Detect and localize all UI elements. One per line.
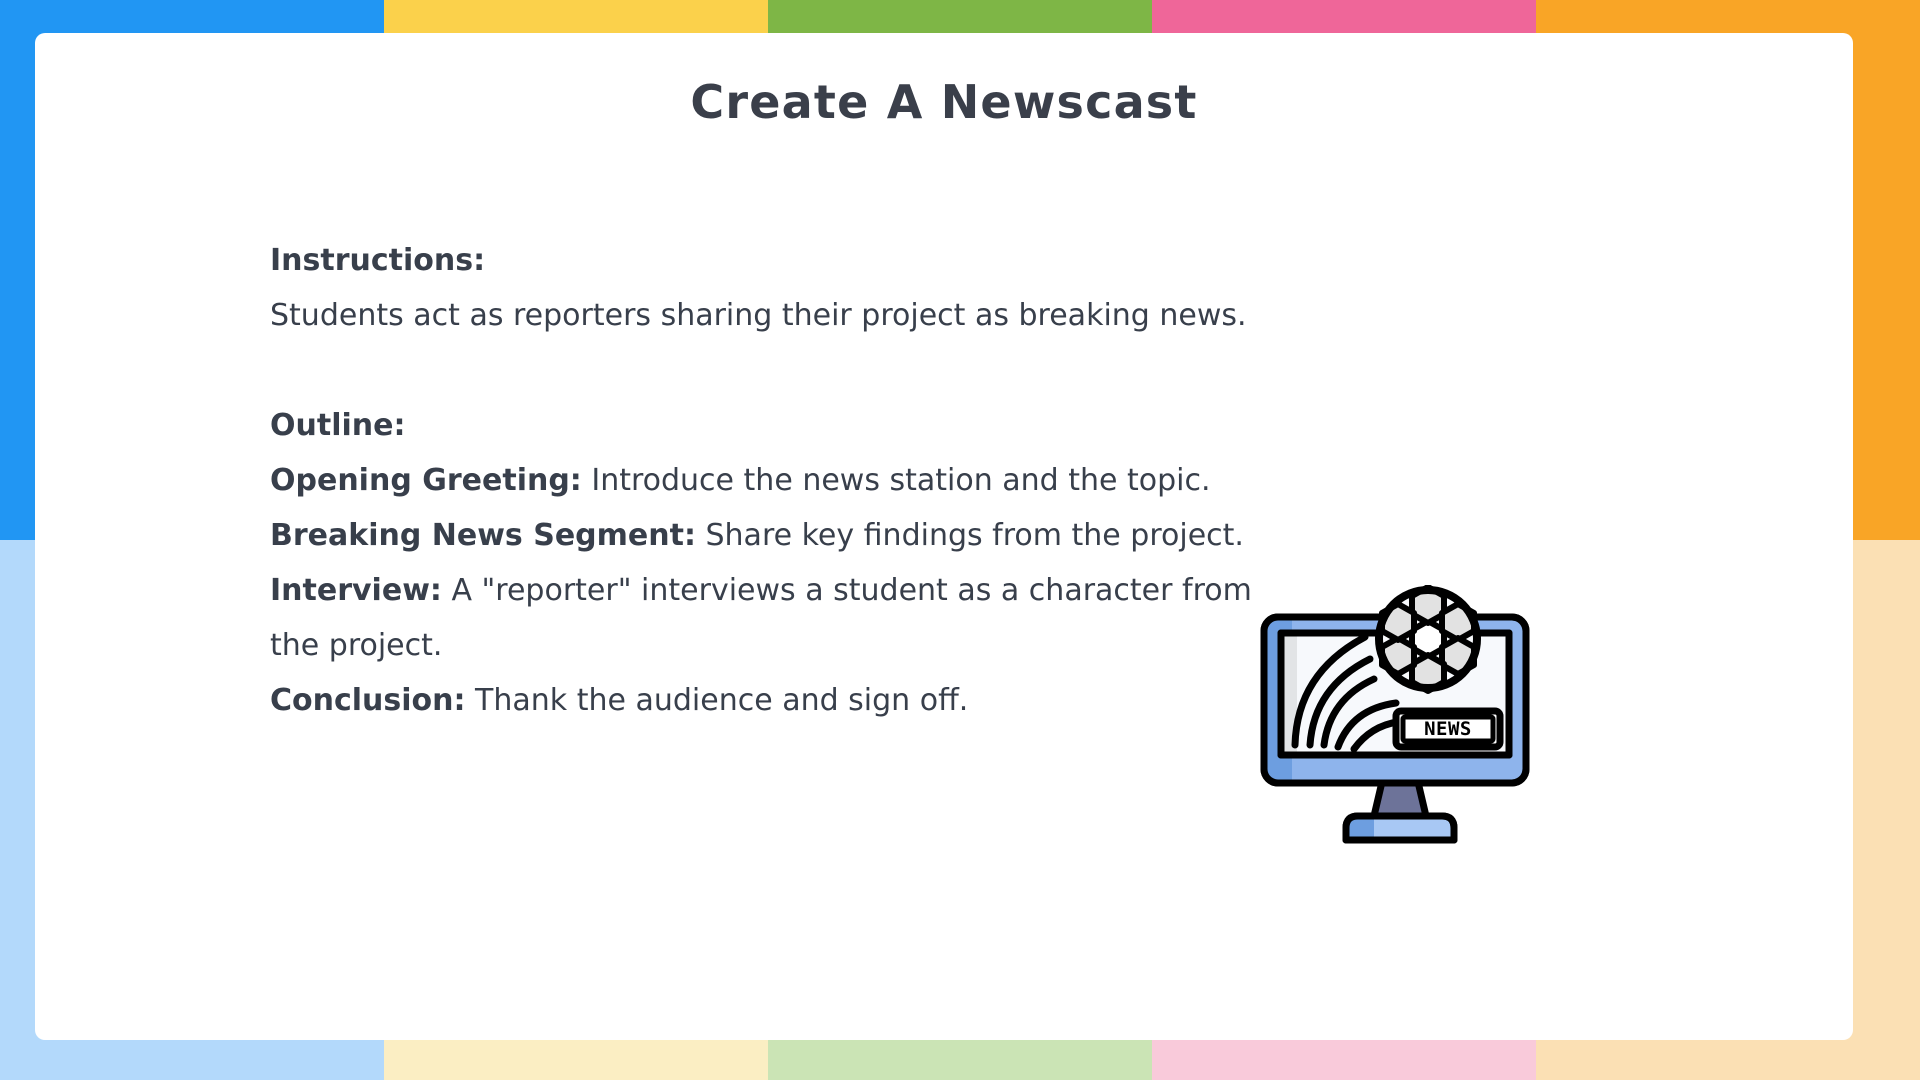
- outline-item-text: Introduce the news station and the topic…: [582, 463, 1211, 498]
- outline-item-text: Thank the audience and sign off.: [466, 683, 969, 718]
- slide-body: Instructions: Students act as reporters …: [270, 233, 1290, 728]
- slide-root: Create A Newscast Instructions: Students…: [0, 0, 1920, 1080]
- instructions-text: Students act as reporters sharing their …: [270, 288, 1290, 343]
- outline-heading: Outline:: [270, 398, 1290, 453]
- outline-item-conclusion: Conclusion: Thank the audience and sign …: [270, 673, 1290, 728]
- page-title: Create A Newscast: [35, 75, 1853, 129]
- body-spacer: [270, 343, 1290, 398]
- outline-item-label: Opening Greeting:: [270, 463, 582, 498]
- svg-text:NEWS: NEWS: [1424, 718, 1472, 740]
- outline-item-breaking-news-segment: Breaking News Segment: Share key finding…: [270, 508, 1290, 563]
- outline-item-label: Interview:: [270, 573, 442, 608]
- outline-item-text: Share key findings from the project.: [696, 518, 1244, 553]
- slide-card: Create A Newscast Instructions: Students…: [35, 33, 1853, 1040]
- news-monitor-soccer-ball-icon: NEWS: [1250, 585, 1550, 855]
- outline-item-label: Breaking News Segment:: [270, 518, 696, 553]
- outline-item-opening-greeting: Opening Greeting: Introduce the news sta…: [270, 453, 1290, 508]
- outline-item-label: Conclusion:: [270, 683, 466, 718]
- instructions-text-value: Students act as reporters sharing their …: [270, 298, 1247, 333]
- outline-heading-label: Outline:: [270, 408, 405, 443]
- instructions-heading-label: Instructions:: [270, 243, 485, 278]
- outline-item-interview: Interview: A "reporter" interviews a stu…: [270, 563, 1290, 673]
- instructions-heading: Instructions:: [270, 233, 1290, 288]
